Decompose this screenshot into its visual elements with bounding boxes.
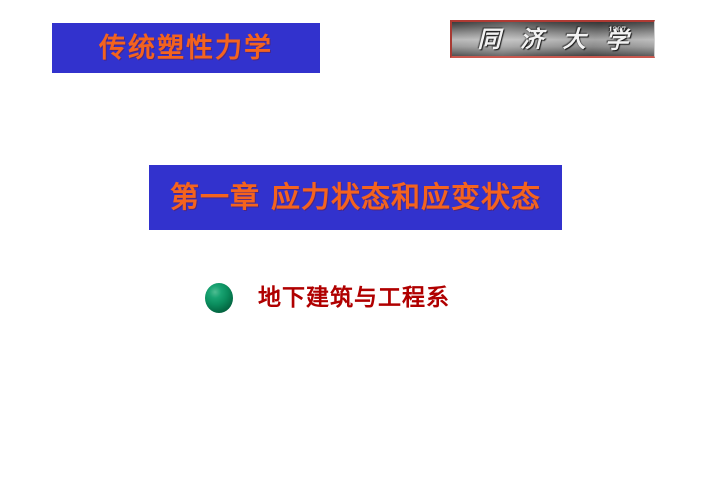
course-title-banner: 传统塑性力学 (52, 23, 320, 73)
green-sphere-bullet-icon (205, 283, 233, 313)
logo-char-xue: 学 (605, 31, 628, 52)
chapter-title-banner: 第一章 应力状态和应变状态 (149, 165, 562, 230)
logo-char-xue-group: 1907 学 (605, 27, 628, 52)
department-row: 地下建筑与工程系 (205, 283, 450, 313)
course-title-text: 传统塑性力学 (99, 35, 273, 62)
department-label: 地下建筑与工程系 (258, 287, 450, 310)
presentation-slide: 传统塑性力学 同 济 大 1907 学 第一章 应力状态和应变状态 地下建筑与工… (0, 0, 702, 496)
logo-char-da: 大 (563, 28, 586, 51)
logo-char-ji: 济 (520, 28, 543, 51)
chapter-title-text: 第一章 应力状态和应变状态 (170, 183, 541, 212)
university-logo: 同 济 大 1907 学 (450, 20, 655, 58)
logo-char-tong: 同 (478, 28, 501, 51)
